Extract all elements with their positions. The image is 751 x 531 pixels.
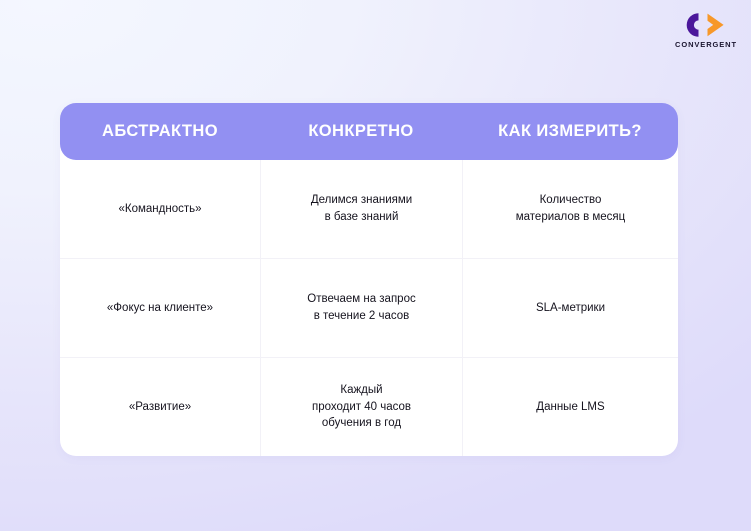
column-header-concrete: КОНКРЕТНО <box>260 122 462 140</box>
cell-text: Каждый проходит 40 часов обучения в год <box>312 382 411 432</box>
cell-text: «Развитие» <box>129 399 191 416</box>
cell-text: Данные LMS <box>536 399 604 416</box>
cell-text: «Фокус на клиенте» <box>107 300 213 317</box>
cell-measure: Количество материалов в месяц <box>462 160 678 258</box>
cell-abstract: «Фокус на клиенте» <box>60 259 260 357</box>
convergent-logo-icon <box>685 12 727 38</box>
cell-concrete: Отвечаем на запрос в течение 2 часов <box>260 259 462 357</box>
cell-line-2: в базе знаний <box>311 209 412 226</box>
cell-line-3: обучения в год <box>312 415 411 432</box>
cell-line-1: Отвечаем на запрос <box>307 291 415 308</box>
column-header-measure: КАК ИЗМЕРИТЬ? <box>462 122 678 140</box>
cell-abstract: «Развитие» <box>60 358 260 456</box>
cell-line-1: Каждый <box>312 382 411 399</box>
cell-measure: SLA-метрики <box>462 259 678 357</box>
cell-line-1: Делимся знаниями <box>311 192 412 209</box>
cell-text: «Командность» <box>118 201 201 218</box>
cell-text: SLA-метрики <box>536 300 605 317</box>
cell-concrete: Делимся знаниями в базе знаний <box>260 160 462 258</box>
cell-text: Количество материалов в месяц <box>516 192 626 225</box>
brand-wordmark: CONVERGENT <box>675 41 737 49</box>
cell-line-2: в течение 2 часов <box>307 308 415 325</box>
cell-line-2: материалов в месяц <box>516 209 626 226</box>
cell-text: Отвечаем на запрос в течение 2 часов <box>307 291 415 324</box>
brand-logo: CONVERGENT <box>675 12 737 49</box>
cell-line-1: Количество <box>516 192 626 209</box>
table-row: «Фокус на клиенте» Отвечаем на запрос в … <box>60 258 678 357</box>
slide-canvas: CONVERGENT АБСТРАКТНО КОНКРЕТНО КАК ИЗМЕ… <box>0 0 751 531</box>
cell-text: Делимся знаниями в базе знаний <box>311 192 412 225</box>
table-body: «Командность» Делимся знаниями в базе зн… <box>60 160 678 456</box>
comparison-table: АБСТРАКТНО КОНКРЕТНО КАК ИЗМЕРИТЬ? «Кома… <box>60 103 678 456</box>
comparison-table-card: АБСТРАКТНО КОНКРЕТНО КАК ИЗМЕРИТЬ? «Кома… <box>60 103 678 456</box>
cell-line-2: проходит 40 часов <box>312 399 411 416</box>
cell-measure: Данные LMS <box>462 358 678 456</box>
cell-concrete: Каждый проходит 40 часов обучения в год <box>260 358 462 456</box>
table-header-row: АБСТРАКТНО КОНКРЕТНО КАК ИЗМЕРИТЬ? <box>60 103 678 160</box>
table-row: «Командность» Делимся знаниями в базе зн… <box>60 160 678 258</box>
cell-abstract: «Командность» <box>60 160 260 258</box>
column-header-abstract: АБСТРАКТНО <box>60 122 260 140</box>
table-row: «Развитие» Каждый проходит 40 часов обуч… <box>60 357 678 456</box>
